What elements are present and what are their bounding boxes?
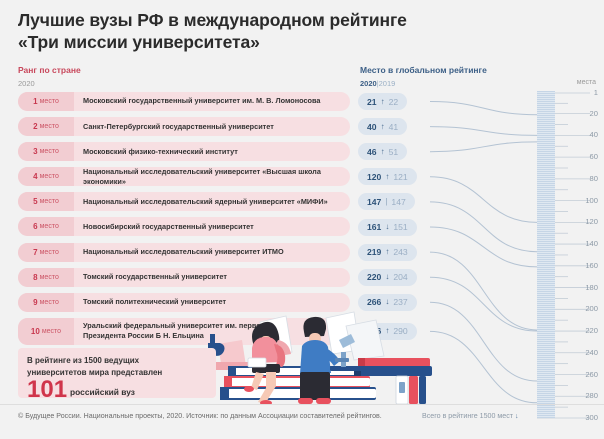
rank-number: 3 <box>33 147 37 156</box>
global-rank-pill[interactable]: 161↓151 <box>358 219 417 236</box>
axis-tick-label: 260 <box>585 370 598 379</box>
axis-tick-label: 80 <box>590 174 598 183</box>
global-rank-pill[interactable]: 120↑121 <box>358 168 417 185</box>
table-row[interactable]: 5местоНациональный исследовательский яде… <box>18 192 350 211</box>
axis-tick-label: 300 <box>585 413 598 422</box>
rank-badge: 9место <box>18 293 74 312</box>
trend-down-icon: ↓ <box>385 273 389 281</box>
rank-2019-value: 121 <box>393 172 407 182</box>
footer-divider <box>0 404 604 405</box>
rank-number: 10 <box>31 327 40 336</box>
year-2019-label: 2019 <box>379 79 396 88</box>
right-column-header: Место в глобальном рейтинге <box>360 65 487 75</box>
rank-unit-label: место <box>40 173 59 180</box>
rank-unit-label: место <box>40 249 59 256</box>
rank-2019-value: 151 <box>393 222 407 232</box>
trend-down-icon: ↓ <box>385 223 389 231</box>
axis-gradient-bar <box>537 91 555 418</box>
book-stack <box>220 366 376 400</box>
university-name: Санкт-Петербургский государственный унив… <box>74 122 274 132</box>
trend-up-icon: ↑ <box>385 173 389 181</box>
rank-2020-value: 147 <box>367 197 381 207</box>
axis-tick-label: 40 <box>590 130 598 139</box>
summary-box: В рейтинге из 1500 ведущих университетов… <box>18 348 216 398</box>
rank-number: 4 <box>33 172 37 181</box>
rank-2020-value: 120 <box>367 172 381 182</box>
down-arrow-icon: ↓ <box>515 412 519 420</box>
axis-tick-label: 140 <box>585 239 598 248</box>
global-rank-pill[interactable]: 21↑22 <box>358 93 407 110</box>
infographic-page: Лучшие вузы РФ в международном рейтинге … <box>0 0 604 439</box>
university-name: Томский государственный университет <box>74 272 227 282</box>
table-row[interactable]: 4местоНациональный исследовательский уни… <box>18 167 350 186</box>
global-rank-pill[interactable]: 147|147 <box>358 193 415 210</box>
axis-tick-label: 120 <box>585 217 598 226</box>
summary-figure-row: 101российский вуз <box>27 378 207 402</box>
right-column-years: 2020|2019 <box>360 79 395 88</box>
students-illustration <box>208 300 438 405</box>
rank-number: 9 <box>33 298 37 307</box>
rank-unit-label: место <box>40 299 59 306</box>
axis-tick-label: 100 <box>585 196 598 205</box>
university-name: Новосибирский государственный университе… <box>74 222 254 232</box>
rank-badge: 4место <box>18 167 74 186</box>
rank-2019-value: 51 <box>389 147 399 157</box>
rank-unit-label: место <box>40 123 59 130</box>
rank-badge: 2место <box>18 117 74 136</box>
rank-number: 2 <box>33 122 37 131</box>
rank-badge: 7место <box>18 243 74 262</box>
axis-tick-labels: 1204060801001201401601802002202402602803… <box>560 85 604 425</box>
trend-up-icon: ↑ <box>381 123 385 131</box>
page-title-line2: «Три миссии университета» <box>18 32 438 54</box>
rank-unit-label: место <box>40 148 59 155</box>
rank-number: 8 <box>33 273 37 282</box>
rank-unit-label: место <box>40 198 59 205</box>
rank-2019-value: 204 <box>393 272 407 282</box>
rank-number: 6 <box>33 222 37 231</box>
axis-tick-label: 160 <box>585 261 598 270</box>
rank-number: 7 <box>33 248 37 257</box>
global-rank-pill[interactable]: 219↑243 <box>358 244 417 261</box>
table-row[interactable]: 8местоТомский государственный университе… <box>18 268 350 287</box>
university-name: Томский политехнический университет <box>74 297 226 307</box>
axis-tick-label: 20 <box>590 109 598 118</box>
table-row[interactable]: 6местоНовосибирский государственный унив… <box>18 217 350 236</box>
summary-number: 101 <box>27 378 67 402</box>
global-rank-pill[interactable]: 40↑41 <box>358 118 407 135</box>
axis-tick-label: 180 <box>585 283 598 292</box>
university-name: Московский государственный университет и… <box>74 96 320 106</box>
global-rank-pill[interactable]: 46↑51 <box>358 143 407 160</box>
axis-tick-label: 240 <box>585 348 598 357</box>
table-row[interactable]: 1местоМосковский государственный универс… <box>18 92 350 111</box>
rank-badge: 5место <box>18 192 74 211</box>
rank-2020-value: 46 <box>367 147 377 157</box>
rank-number: 1 <box>33 97 37 106</box>
footer-credit: © Будущее России. Национальные проекты, … <box>18 412 382 420</box>
axis-tick-label: 280 <box>585 391 598 400</box>
rank-number: 5 <box>33 197 37 206</box>
rank-unit-label: место <box>40 98 59 105</box>
axis-tick-label: 1 <box>594 88 598 97</box>
axis-tick-label: 60 <box>590 152 598 161</box>
rank-unit-label: место <box>40 274 59 281</box>
rank-badge: 6место <box>18 217 74 236</box>
year-2020-label: 2020 <box>360 79 377 88</box>
axis-tick-label: 220 <box>585 326 598 335</box>
rank-2020-value: 220 <box>367 272 381 282</box>
rank-2020-value: 161 <box>367 222 381 232</box>
table-row[interactable]: 2местоСанкт-Петербургский государственны… <box>18 117 350 136</box>
rank-2019-value: 41 <box>389 122 399 132</box>
summary-suffix: российский вуз <box>70 387 135 397</box>
rank-2020-value: 219 <box>367 247 381 257</box>
rank-badge: 3место <box>18 142 74 161</box>
rank-2019-value: 22 <box>389 97 399 107</box>
rank-2019-value: 147 <box>391 197 405 207</box>
table-row[interactable]: 7местоНациональный исследовательский уни… <box>18 243 350 262</box>
university-name: Национальный исследовательский университ… <box>74 167 350 187</box>
footer-total-note: Всего в рейтинге 1500 мест ↓ <box>422 412 519 420</box>
trend-up-icon: ↑ <box>381 98 385 106</box>
rank-2020-value: 40 <box>367 122 377 132</box>
rank-2020-value: 21 <box>367 97 377 107</box>
rank-badge: 1место <box>18 92 74 111</box>
university-name: Национальный исследовательский ядерный у… <box>74 197 328 207</box>
university-name: Московский физико-технический институт <box>74 147 238 157</box>
page-title-line1: Лучшие вузы РФ в международном рейтинге <box>18 10 438 32</box>
rank-unit-label: место <box>40 223 59 230</box>
rank-badge: 10место <box>18 318 74 345</box>
summary-line1: В рейтинге из 1500 ведущих <box>27 355 207 367</box>
table-row[interactable]: 3местоМосковский физико-технический инст… <box>18 142 350 161</box>
trend-up-icon: ↑ <box>385 248 389 256</box>
left-column-year: 2020 <box>18 79 35 88</box>
rank-badge: 8место <box>18 268 74 287</box>
page-title: Лучшие вузы РФ в международном рейтинге … <box>18 10 438 53</box>
trend-flat-icon: | <box>385 198 387 206</box>
footer-total-text: Всего в рейтинге 1500 мест <box>422 412 513 420</box>
axis-tick-label: 200 <box>585 304 598 313</box>
rank-unit-label: место <box>42 328 61 335</box>
trend-up-icon: ↑ <box>381 148 385 156</box>
left-column-header: Ранг по стране <box>18 65 81 75</box>
global-rank-pill[interactable]: 220↓204 <box>358 269 417 286</box>
university-name: Национальный исследовательский университ… <box>74 247 284 257</box>
rank-2019-value: 243 <box>393 247 407 257</box>
